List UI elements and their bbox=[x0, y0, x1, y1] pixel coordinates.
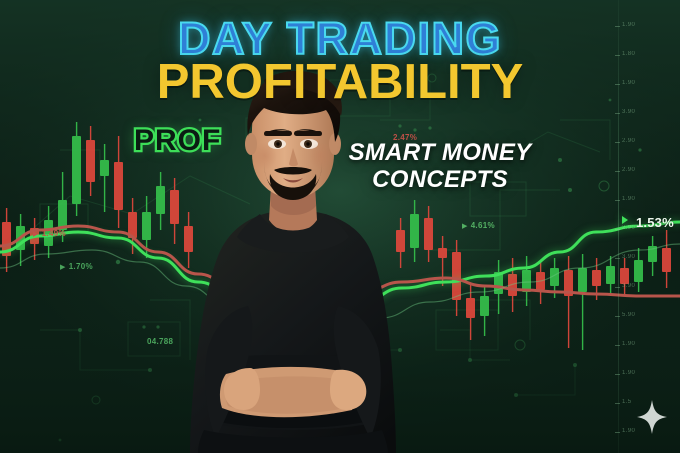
price-axis-tick: 2.90 bbox=[622, 167, 635, 173]
presenter-photo bbox=[186, 58, 400, 453]
candle-wick bbox=[118, 136, 119, 228]
price-axis-tick: 3.90 bbox=[622, 283, 635, 289]
price-axis-tick: 1.90 bbox=[622, 341, 635, 347]
price-axis-tick: 1.5 bbox=[622, 399, 632, 405]
candle-body bbox=[72, 136, 81, 204]
candle-wick bbox=[498, 260, 499, 314]
subtitle-block: SMART MONEY CONCEPTS bbox=[330, 140, 550, 194]
prof-badge-text: PROF bbox=[134, 124, 221, 157]
candle-wick bbox=[582, 254, 583, 350]
candle-body bbox=[438, 248, 447, 258]
candle-wick bbox=[132, 198, 133, 254]
candle-wick bbox=[442, 236, 443, 286]
annotation-value: 1.49% bbox=[42, 229, 66, 238]
candle-body bbox=[58, 200, 67, 230]
candle-body bbox=[466, 298, 475, 318]
candle-body bbox=[170, 190, 179, 224]
candle-body bbox=[44, 220, 53, 246]
main-percent-callout: 1.53% bbox=[636, 215, 674, 230]
candle-body bbox=[2, 222, 11, 256]
thumbnail-canvas: 1.901.801.903.902.902.901.902.903.903.90… bbox=[0, 0, 680, 453]
callout-play-triangle-icon bbox=[622, 216, 628, 224]
candle-body bbox=[508, 274, 517, 296]
annotation-value: 1.70% bbox=[69, 262, 93, 271]
candle-wick bbox=[6, 208, 7, 272]
candle-body bbox=[100, 160, 109, 176]
price-axis-tick: 5.90 bbox=[622, 312, 635, 318]
candle-wick bbox=[62, 172, 63, 242]
price-axis-tick: 2.90 bbox=[622, 225, 635, 231]
candle-body bbox=[424, 218, 433, 250]
candle-body bbox=[114, 162, 123, 210]
candle-wick bbox=[160, 172, 161, 230]
price-axis-tick: 1.90 bbox=[622, 196, 635, 202]
candle-body bbox=[550, 268, 559, 286]
annotation-value: 4.61% bbox=[471, 221, 495, 230]
sparkle-star-icon bbox=[637, 400, 667, 434]
candle-body bbox=[494, 272, 503, 294]
price-axis-tick: 1.90 bbox=[622, 428, 635, 434]
candle-wick bbox=[428, 206, 429, 262]
candle-body bbox=[156, 186, 165, 214]
candle-body bbox=[16, 226, 25, 250]
candle-wick bbox=[20, 214, 21, 266]
candle-wick bbox=[414, 200, 415, 262]
candle-wick bbox=[76, 122, 77, 216]
annotation-marker-icon: ▶ bbox=[33, 231, 39, 238]
candle-body bbox=[522, 270, 531, 292]
candle-body bbox=[578, 268, 587, 292]
candle-wick bbox=[540, 260, 541, 304]
annotation-marker-icon: ▶ bbox=[60, 264, 66, 271]
price-axis-tick: 3.90 bbox=[622, 254, 635, 260]
candle-wick bbox=[146, 196, 147, 258]
candle-body bbox=[592, 270, 601, 286]
price-axis-tick: 2.90 bbox=[622, 138, 635, 144]
price-axis-tick: 3.90 bbox=[622, 109, 635, 115]
candle-body bbox=[410, 214, 419, 248]
subtitle-line-2: CONCEPTS bbox=[330, 167, 550, 194]
price-axis-tick: 1.90 bbox=[622, 370, 635, 376]
candle-wick bbox=[568, 256, 569, 348]
annotation-marker-icon: ▶ bbox=[462, 223, 468, 230]
prof-badge-label: PROF bbox=[134, 126, 221, 156]
candle-wick bbox=[470, 284, 471, 340]
candle-wick bbox=[484, 286, 485, 336]
annotation-left-green: ▶1.70% bbox=[60, 262, 93, 271]
candle-wick bbox=[400, 218, 401, 268]
candle-body bbox=[30, 228, 39, 244]
candle-wick bbox=[104, 144, 105, 212]
candle-wick bbox=[526, 256, 527, 306]
annotation-left-red: ▶1.49% bbox=[33, 229, 66, 238]
candle-body bbox=[536, 272, 545, 290]
candle-wick bbox=[596, 258, 597, 300]
candle-wick bbox=[48, 206, 49, 258]
candle-body bbox=[142, 212, 151, 240]
annotation-bottom-code: 04.788 bbox=[147, 337, 173, 346]
candle-wick bbox=[90, 126, 91, 196]
headline-line-2: PROFITABILITY bbox=[0, 58, 680, 107]
annotation-mid-green: ▶4.61% bbox=[462, 221, 495, 230]
candle-wick bbox=[174, 178, 175, 244]
candle-body bbox=[480, 296, 489, 316]
annotation-value: 04.788 bbox=[147, 337, 173, 346]
candle-body bbox=[452, 252, 461, 300]
candle-wick bbox=[512, 258, 513, 312]
candle-body bbox=[86, 140, 95, 182]
candle-body bbox=[564, 270, 573, 296]
candle-wick bbox=[456, 240, 457, 316]
candle-body bbox=[128, 212, 137, 238]
candle-wick bbox=[34, 218, 35, 260]
subtitle-line-1: SMART MONEY bbox=[330, 140, 550, 167]
candle-wick bbox=[554, 258, 555, 298]
